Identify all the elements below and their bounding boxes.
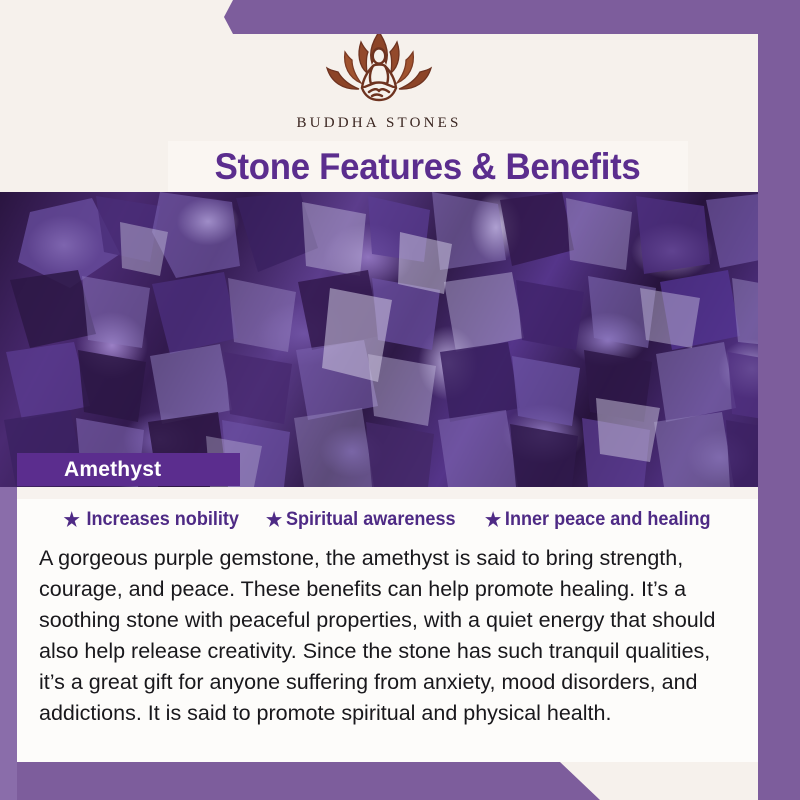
crystal-shards-overlay bbox=[0, 192, 800, 487]
top-accent-band bbox=[215, 0, 800, 34]
right-accent-band bbox=[758, 34, 800, 800]
amethyst-crystal-photo bbox=[0, 192, 800, 487]
benefit-label-1: Spiritual awareness bbox=[286, 509, 456, 531]
content-panel-top-strip bbox=[17, 487, 758, 499]
page-title: Stone Features & Benefits bbox=[215, 146, 641, 188]
brand-logo: BUDDHA STONES bbox=[0, 26, 758, 132]
benefits-list: ★ Increases nobility ★ Spiritual awarene… bbox=[17, 499, 758, 537]
benefit-item-0: ★ Increases nobility bbox=[63, 509, 238, 531]
star-icon: ★ bbox=[266, 511, 282, 530]
benefit-label-2: Inner peace and healing bbox=[505, 509, 711, 531]
bottom-accent-band bbox=[0, 762, 600, 800]
benefit-label-0: Increases nobility bbox=[86, 509, 238, 531]
star-icon: ★ bbox=[63, 511, 79, 530]
brand-name: BUDDHA STONES bbox=[296, 115, 461, 132]
benefit-item-1: ★ Spiritual awareness bbox=[266, 509, 456, 531]
stone-description: A gorgeous purple gemstone, the amethyst… bbox=[17, 537, 758, 729]
benefit-item-2: ★ Inner peace and healing bbox=[485, 509, 711, 531]
stone-name-label: Amethyst bbox=[17, 458, 161, 482]
page-title-bar: Stone Features & Benefits bbox=[168, 141, 688, 192]
left-accent-band bbox=[0, 487, 17, 800]
stone-details-content: ★ Increases nobility ★ Spiritual awarene… bbox=[17, 499, 758, 729]
star-icon: ★ bbox=[485, 511, 501, 530]
stone-name-banner: Amethyst bbox=[17, 453, 240, 486]
lotus-meditation-icon bbox=[317, 26, 441, 112]
